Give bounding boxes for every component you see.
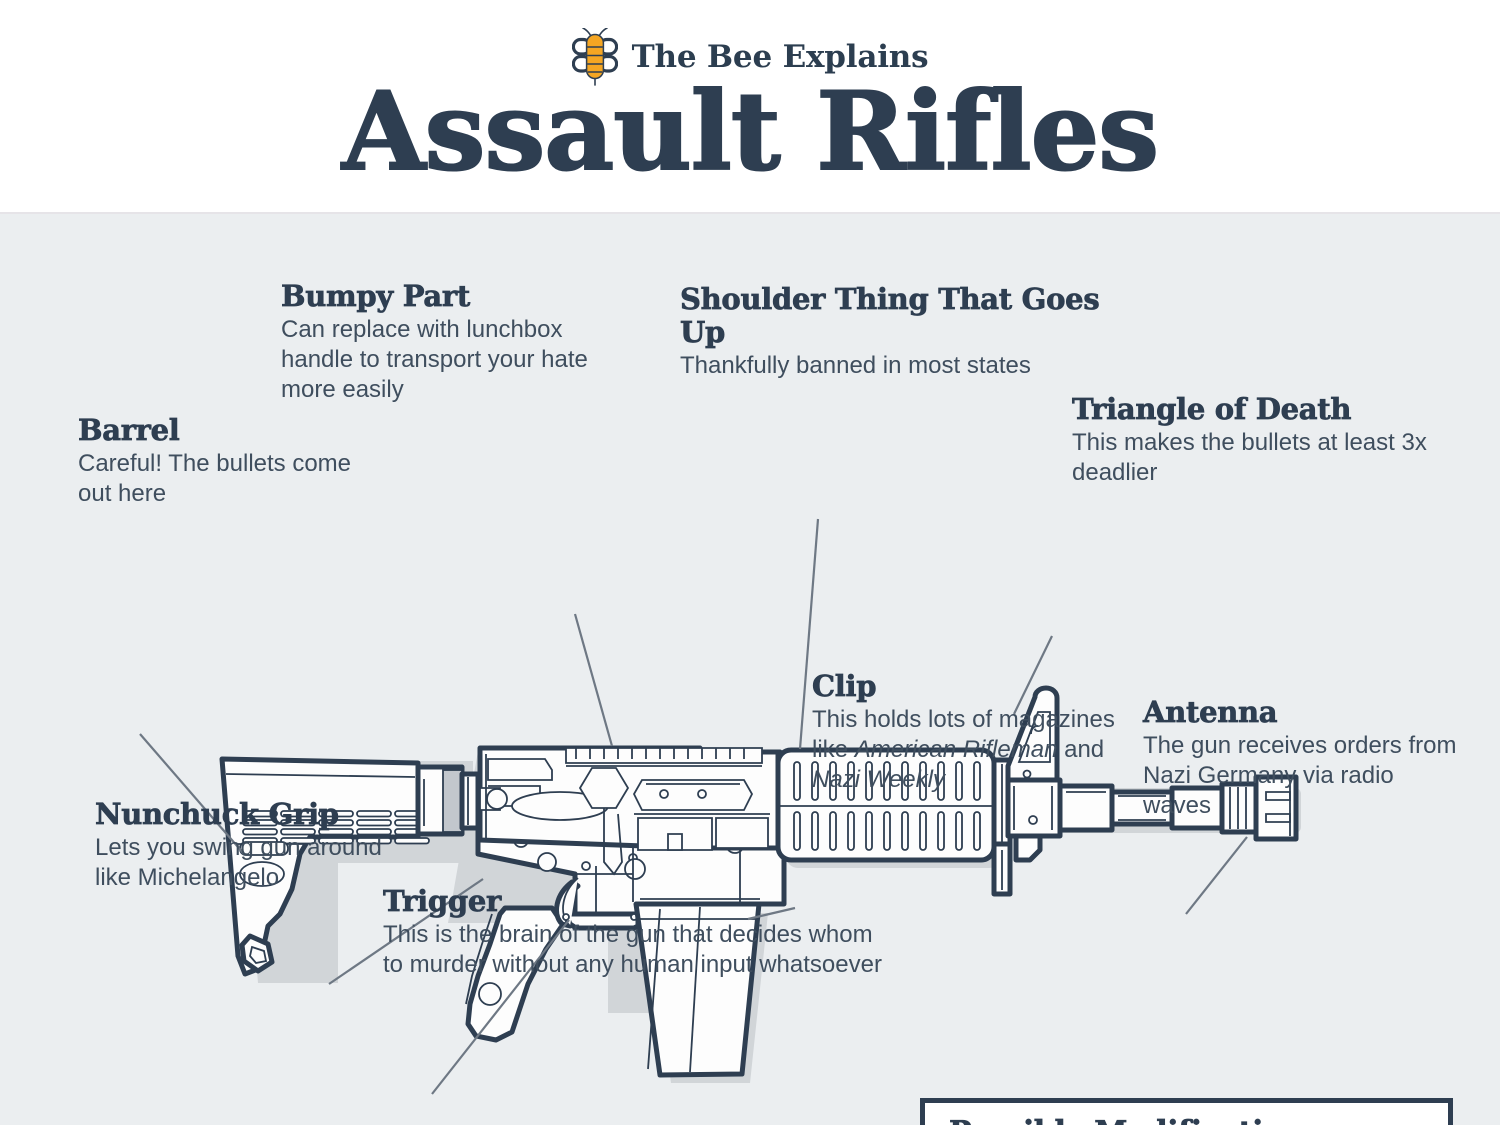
callout-clip: Clip This holds lots of magazines like A… bbox=[812, 670, 1132, 795]
infographic-page: The Bee Explains Assault Rifles .o { fil… bbox=[0, 0, 1500, 1125]
possible-modifications-box: Possible Modifications Bible attachment … bbox=[920, 1098, 1453, 1125]
callout-nunchuck-grip-body: Lets you swing gun around like Michelang… bbox=[95, 833, 415, 893]
page-title: Assault Rifles bbox=[0, 78, 1500, 186]
callout-antenna-body: The gun receives orders from Nazi German… bbox=[1143, 731, 1463, 821]
header: The Bee Explains Assault Rifles bbox=[0, 0, 1500, 213]
callout-bumpy-part-body: Can replace with lunchbox handle to tran… bbox=[281, 315, 631, 405]
callout-barrel-body: Careful! The bullets come out here bbox=[78, 449, 378, 509]
callout-barrel: Barrel Careful! The bullets come out her… bbox=[78, 414, 378, 509]
callout-shoulder-thing-body: Thankfully banned in most states bbox=[680, 351, 1100, 381]
callout-clip-body: This holds lots of magazines like Americ… bbox=[812, 705, 1132, 795]
callout-trigger-body: This is the brain of the gun that decide… bbox=[383, 920, 883, 980]
callout-clip-title: Clip bbox=[812, 670, 1132, 703]
leader-line-antenna bbox=[1186, 837, 1247, 914]
callout-shoulder-thing: Shoulder Thing That Goes Up Thankfully b… bbox=[680, 283, 1100, 381]
callout-nunchuck-grip-title: Nunchuck Grip bbox=[95, 798, 415, 831]
diagram-stage: .o { fill:#fdfdfd; stroke:#2e3e51; strok… bbox=[0, 214, 1500, 1125]
picatinny-rail bbox=[566, 748, 762, 766]
callout-nunchuck-grip: Nunchuck Grip Lets you swing gun around … bbox=[95, 798, 415, 893]
clip-body-part2: and bbox=[1057, 736, 1104, 763]
callout-trigger: Trigger This is the brain of the gun tha… bbox=[383, 885, 883, 980]
callout-triangle-of-death: Triangle of Death This makes the bullets… bbox=[1072, 393, 1432, 488]
callout-triangle-of-death-body: This makes the bullets at least 3x deadl… bbox=[1072, 428, 1432, 488]
callout-shoulder-thing-title: Shoulder Thing That Goes Up bbox=[680, 283, 1100, 349]
callout-antenna-title: Antenna bbox=[1143, 696, 1463, 729]
clip-magazine-nazi-weekly: Nazi Weekly bbox=[812, 766, 945, 793]
leader-line-bumpy-part bbox=[575, 614, 612, 746]
brand-title: The Bee Explains bbox=[632, 42, 929, 73]
possible-modifications-title: Possible Modifications bbox=[949, 1115, 1448, 1125]
callout-bumpy-part-title: Bumpy Part bbox=[281, 280, 631, 313]
callout-antenna: Antenna The gun receives orders from Naz… bbox=[1143, 696, 1463, 821]
callout-bumpy-part: Bumpy Part Can replace with lunchbox han… bbox=[281, 280, 631, 405]
callout-trigger-title: Trigger bbox=[383, 885, 883, 918]
clip-magazine-american-rifleman: American Rifleman bbox=[855, 736, 1058, 763]
callout-triangle-of-death-title: Triangle of Death bbox=[1072, 393, 1432, 426]
callout-barrel-title: Barrel bbox=[78, 414, 378, 447]
buffer-tube-group bbox=[418, 767, 478, 834]
